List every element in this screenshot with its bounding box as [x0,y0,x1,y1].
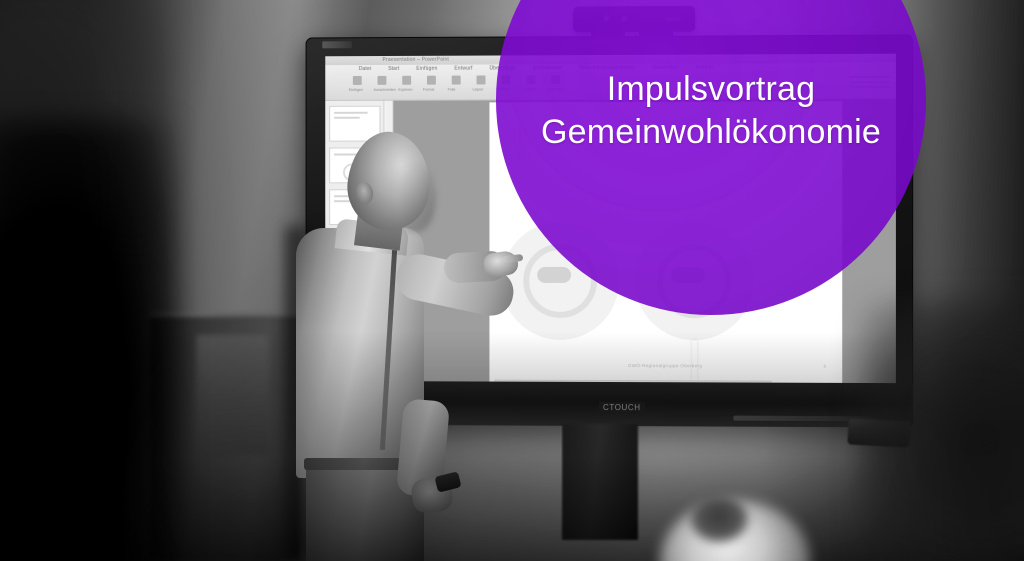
presenter-index-finger [503,254,524,263]
foreground-blur-left [0,120,180,561]
headline-line-1: Impulsvortrag [607,70,816,108]
foreground-dark-right [860,300,1024,561]
headline-line-2: Gemeinwohlökonomie [496,111,926,154]
presenter-face-shading [396,160,436,232]
audience-head-hair [690,496,748,542]
overlay-headline: Impulsvortrag Gemeinwohlökonomie [496,68,926,153]
screenshot-canvas: Praesentation – PowerPoint Datei Start E… [0,0,1024,561]
